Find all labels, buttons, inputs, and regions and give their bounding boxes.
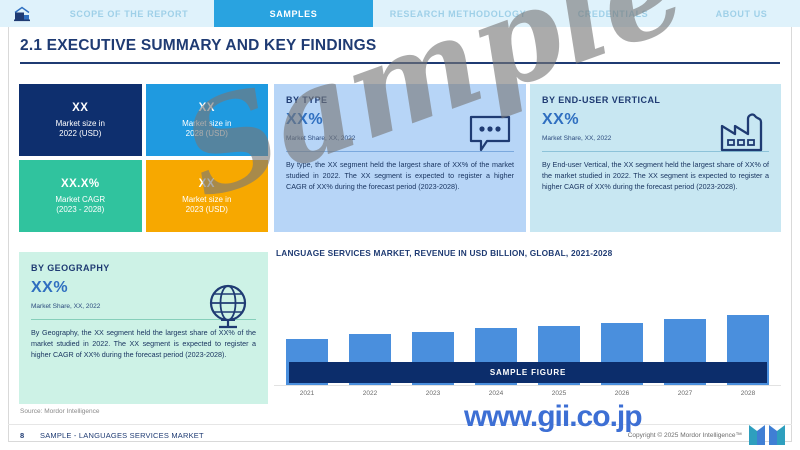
kpi-label-line1: Market size in <box>182 119 231 129</box>
kpi-value: XX <box>199 101 215 115</box>
insight-card-by-geography: BY GEOGRAPHY XX% Market Share, XX, 2022 … <box>19 252 268 404</box>
card-heading: BY TYPE <box>286 95 514 105</box>
globe-icon <box>204 282 252 337</box>
kpi-label-line2: (2023 - 2028) <box>56 205 104 215</box>
nav-item-label: SAMPLES <box>270 9 318 19</box>
insight-card-by-end-user-vertical: BY END-USER VERTICAL XX% Market Share, X… <box>530 84 781 232</box>
kpi-tile-market-cagr: XX.X% Market CAGR (2023 - 2028) <box>19 160 142 232</box>
kpi-value: XX <box>199 177 215 191</box>
kpi-label-line2: 2023 (USD) <box>186 205 228 215</box>
card-heading: BY GEOGRAPHY <box>31 263 256 273</box>
card-heading: BY END-USER VERTICAL <box>542 95 769 105</box>
kpi-tile-grid: XX Market size in 2022 (USD) XX Market s… <box>19 84 268 232</box>
nav-item-research-methodology[interactable]: RESEARCH METHODOLOGY <box>373 0 543 27</box>
copyright-text: Copyright © 2025 Mordor Intelligence™ <box>628 432 742 439</box>
chart-x-label: 2024 <box>473 390 519 397</box>
kpi-value: XX <box>72 101 88 115</box>
kpi-tile-market-size-2028: XX Market size in 2028 (USD) <box>146 84 269 156</box>
nav-item-scope-of-the-report[interactable]: SCOPE OF THE REPORT <box>44 0 214 27</box>
footer-divider <box>8 424 792 425</box>
kpi-tile-market-size-2023: XX Market size in 2023 (USD) <box>146 160 269 232</box>
footer-report-title: SAMPLE - LANGUAGES SERVICES MARKET <box>40 431 204 440</box>
nav-item-about-us[interactable]: ABOUT US <box>683 0 800 27</box>
page-title: 2.1 EXECUTIVE SUMMARY AND KEY FINDINGS <box>20 37 376 55</box>
chart-x-label: 2028 <box>725 390 771 397</box>
kpi-label-line2: 2022 (USD) <box>59 129 101 139</box>
top-navigation-bar: SCOPE OF THE REPORT SAMPLES RESEARCH MET… <box>0 0 800 27</box>
chart-title: LANGUAGE SERVICES MARKET, REVENUE IN USD… <box>276 248 781 258</box>
kpi-value: XX.X% <box>61 177 99 191</box>
chart-x-label: 2025 <box>536 390 582 397</box>
nav-item-label: ABOUT US <box>716 9 768 19</box>
kpi-label-line1: Market size in <box>56 119 105 129</box>
nav-item-label: CREDENTIALS <box>578 9 649 19</box>
nav-item-label: SCOPE OF THE REPORT <box>70 9 188 19</box>
revenue-bar-chart: LANGUAGE SERVICES MARKET, REVENUE IN USD… <box>274 248 781 404</box>
chart-x-label: 2026 <box>599 390 645 397</box>
title-divider <box>20 62 780 64</box>
source-note: Source: Mordor Intelligence <box>20 408 100 415</box>
chart-x-label: 2023 <box>410 390 456 397</box>
chart-x-label: 2027 <box>662 390 708 397</box>
nav-item-samples[interactable]: SAMPLES <box>214 0 373 27</box>
nav-item-credentials[interactable]: CREDENTIALS <box>543 0 683 27</box>
nav-item-label: RESEARCH METHODOLOGY <box>390 9 527 19</box>
kpi-tile-market-size-2022: XX Market size in 2022 (USD) <box>19 84 142 156</box>
insight-card-by-type: BY TYPE XX% Market Share, XX, 2022 By ty… <box>274 84 526 232</box>
kpi-label-line1: Market CAGR <box>55 195 105 205</box>
chart-plot-area: SAMPLE FIGURE <box>274 304 781 386</box>
mordor-house-logo-icon[interactable] <box>0 0 44 27</box>
speech-bubble-icon <box>468 114 512 159</box>
chart-x-label: 2021 <box>284 390 330 397</box>
page-number: 8 <box>20 431 24 440</box>
chart-x-label: 2022 <box>347 390 393 397</box>
kpi-label-line1: Market size in <box>182 195 231 205</box>
chart-x-axis-labels: 2021 2022 2023 2024 2025 2026 2027 2028 <box>274 390 781 397</box>
factory-icon <box>717 110 765 159</box>
mordor-m-logo-icon <box>748 424 786 450</box>
card-body-text: By type, the XX segment held the largest… <box>286 160 514 192</box>
sample-figure-overlay: SAMPLE FIGURE <box>289 362 767 383</box>
kpi-label-line2: 2028 (USD) <box>186 129 228 139</box>
slide-root: SCOPE OF THE REPORT SAMPLES RESEARCH MET… <box>0 0 800 450</box>
card-body-text: By End-user Vertical, the XX segment hel… <box>542 160 769 192</box>
